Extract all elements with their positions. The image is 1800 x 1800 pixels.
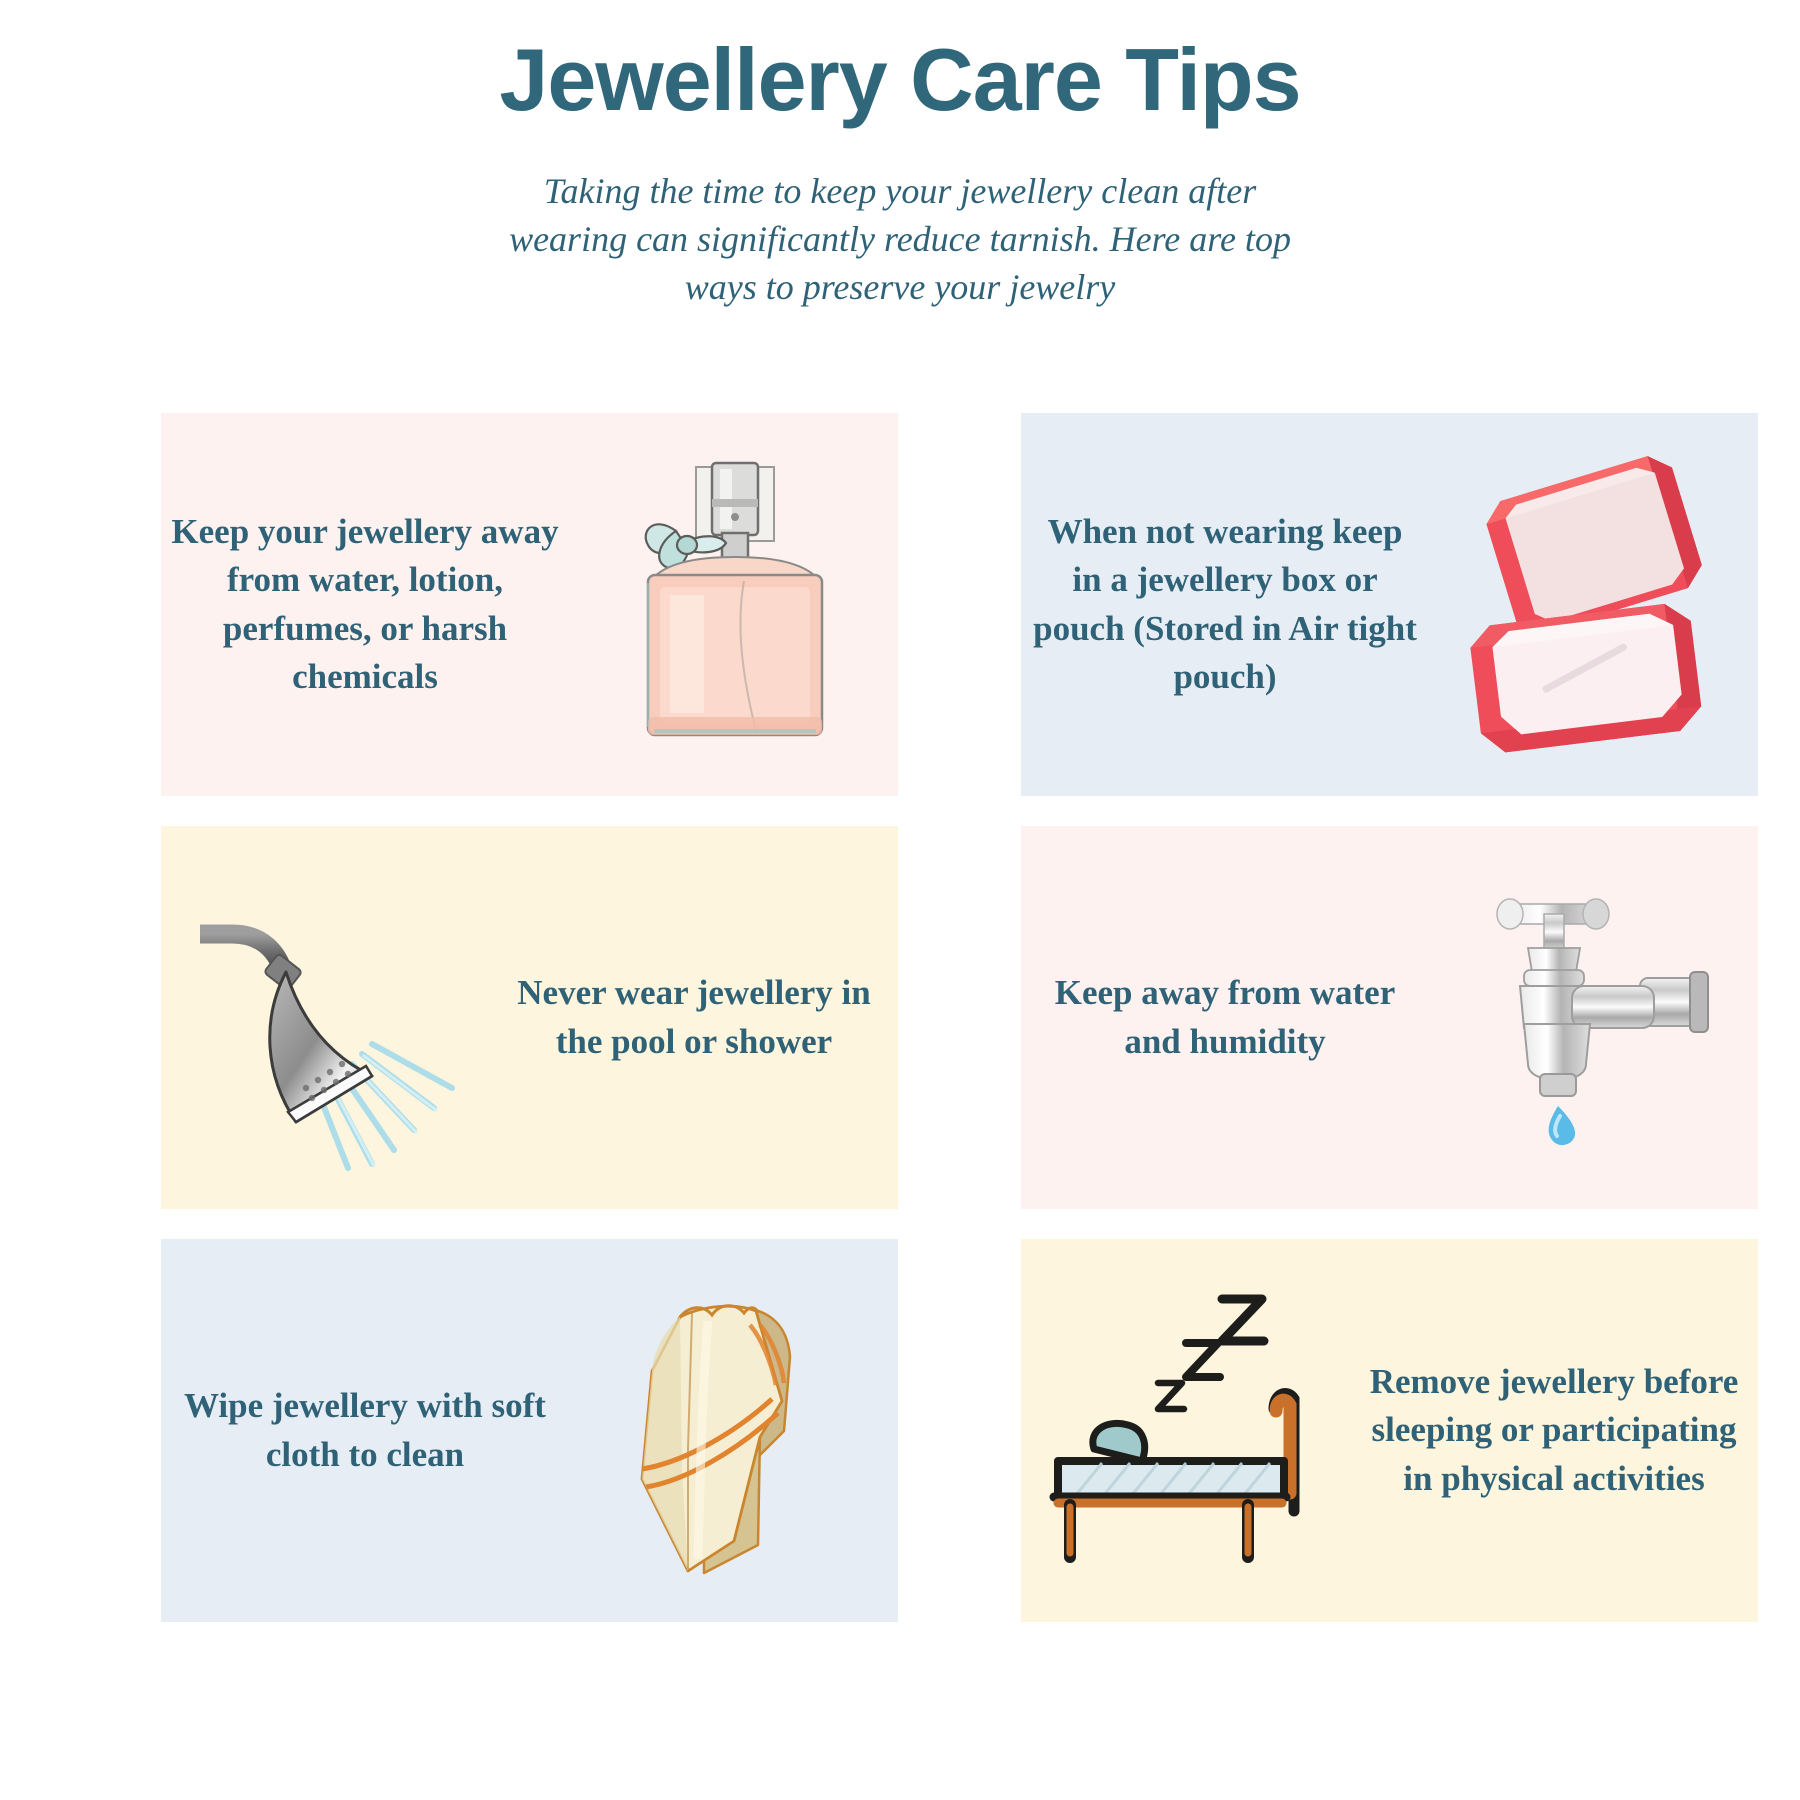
tip-card-sleeping: Remove jewellery before sleeping or part… (1021, 1239, 1758, 1622)
tip-card-humidity-text: Keep away from water and humidity (1021, 969, 1429, 1066)
tip-card-storage: When not wearing keep in a jewellery box… (1021, 413, 1758, 796)
tip-card-pool-shower: Never wear jewellery in the pool or show… (161, 826, 898, 1209)
tip-card-chemicals: Keep your jewellery away from water, lot… (161, 413, 898, 796)
faucet-icon (1444, 868, 1744, 1168)
tip-card-chemicals-art (569, 413, 898, 796)
bed-zzz-icon (1036, 1281, 1336, 1581)
header: Jewellery Care Tips Taking the time to k… (0, 0, 1800, 312)
perfume-bottle-icon (584, 455, 884, 755)
tip-card-sleeping-art (1021, 1239, 1350, 1622)
page-title: Jewellery Care Tips (0, 34, 1800, 126)
tips-grid: Keep your jewellery away from water, lot… (161, 413, 1758, 1622)
ring-box-icon (1444, 455, 1744, 755)
tip-card-storage-art (1429, 413, 1758, 796)
cloth-icon (584, 1281, 884, 1581)
tip-card-storage-text: When not wearing keep in a jewellery box… (1021, 508, 1429, 701)
tip-card-wipe-cloth-art (569, 1239, 898, 1622)
shower-head-icon (176, 868, 476, 1168)
tip-card-pool-shower-text: Never wear jewellery in the pool or show… (490, 969, 898, 1066)
page-subtitle: Taking the time to keep your jewellery c… (500, 168, 1300, 312)
tip-card-humidity-art (1429, 826, 1758, 1209)
tip-card-sleeping-text: Remove jewellery before sleeping or part… (1350, 1358, 1758, 1503)
infographic-page: Jewellery Care Tips Taking the time to k… (0, 0, 1800, 1800)
tip-card-pool-shower-art (161, 826, 490, 1209)
tip-card-chemicals-text: Keep your jewellery away from water, lot… (161, 508, 569, 701)
tip-card-wipe-cloth-text: Wipe jewellery with soft cloth to clean (161, 1382, 569, 1479)
tip-card-wipe-cloth: Wipe jewellery with soft cloth to clean (161, 1239, 898, 1622)
tip-card-humidity: Keep away from water and humidity (1021, 826, 1758, 1209)
